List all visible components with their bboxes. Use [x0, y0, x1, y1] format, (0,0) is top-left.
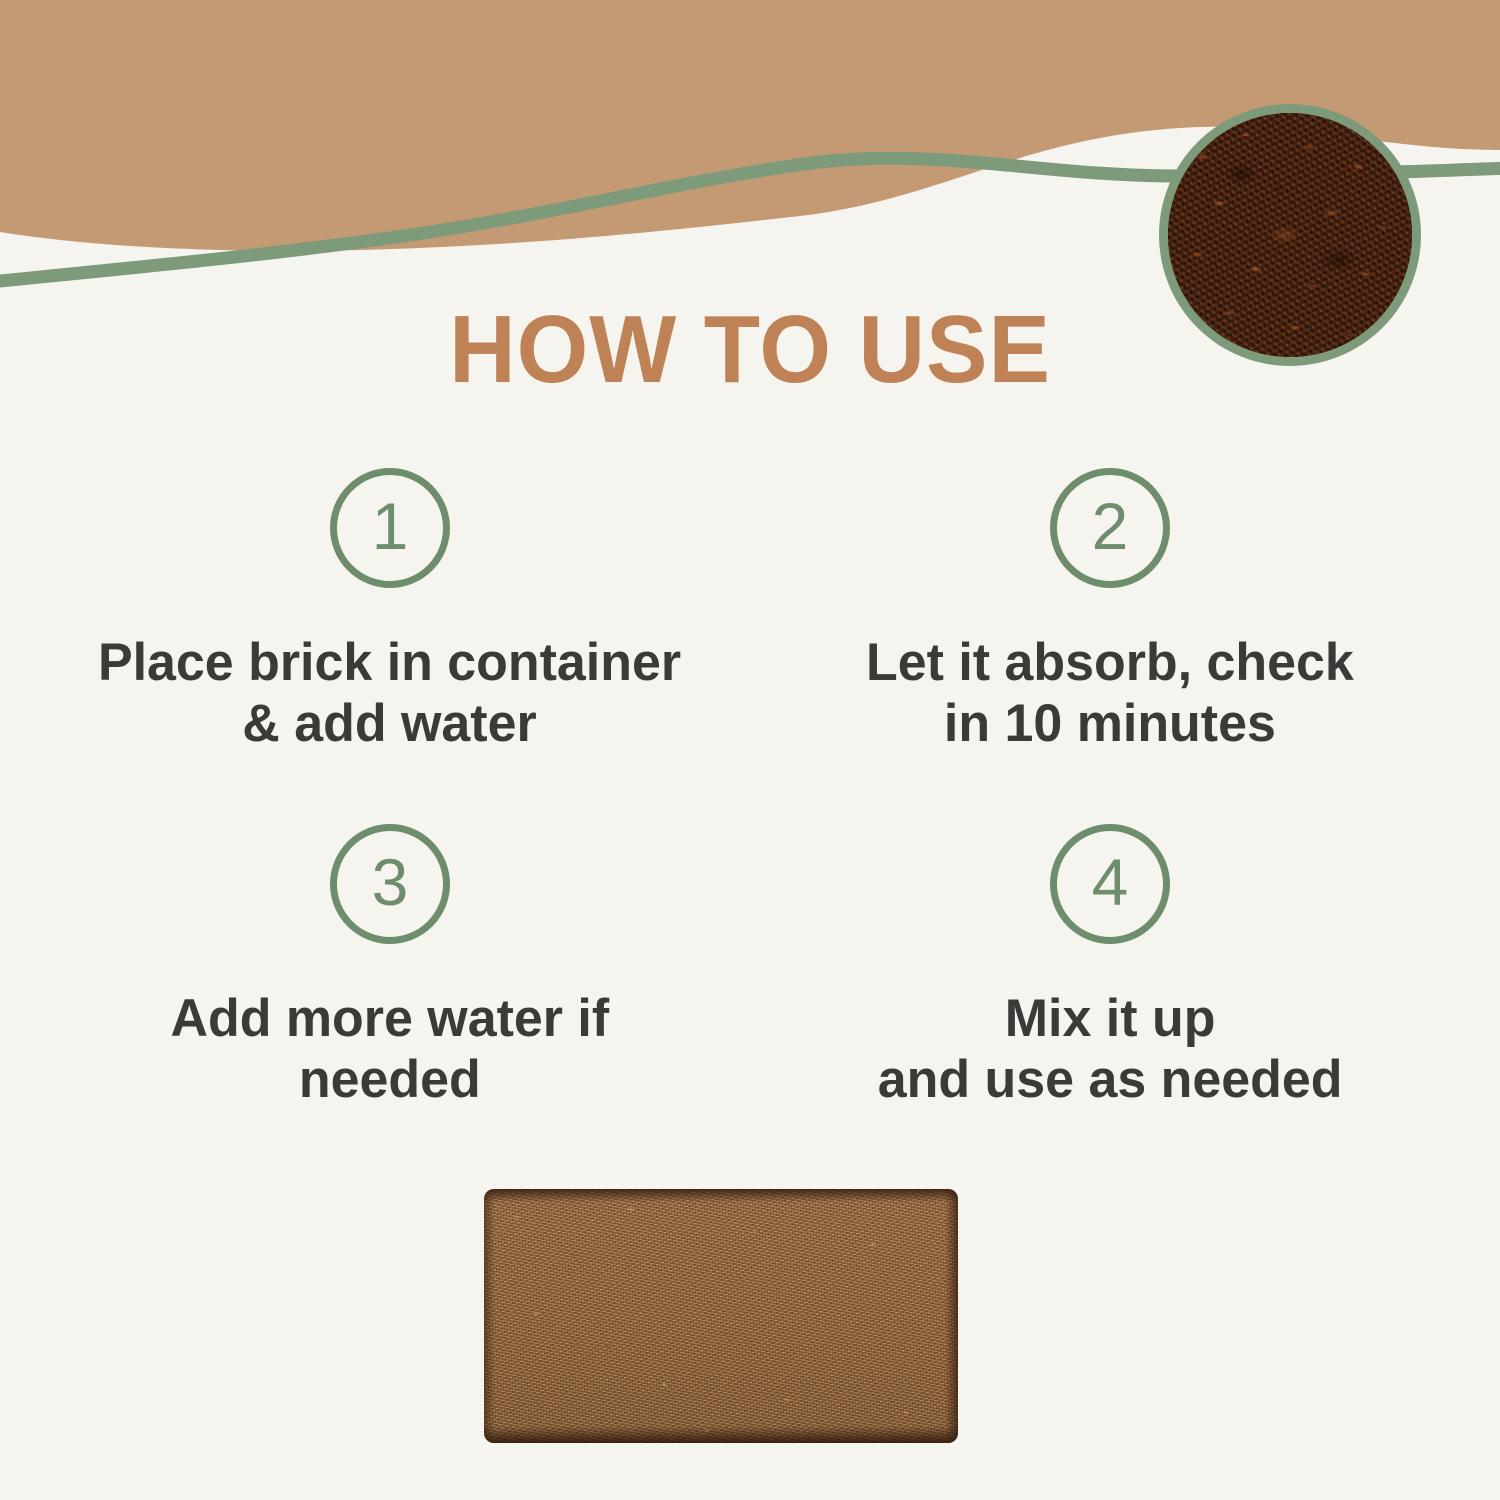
step-item-3: 3 Add more water if needed [30, 824, 750, 1180]
step-number-circle-1: 1 [330, 468, 450, 588]
steps-grid: 1 Place brick in container & add water 2… [30, 468, 1470, 1180]
step-number-3: 3 [372, 849, 409, 915]
step-item-4: 4 Mix it up and use as needed [750, 824, 1470, 1180]
page-title: HOW TO USE [30, 295, 1470, 405]
step-label-2: Let it absorb, check in 10 minutes [866, 632, 1354, 755]
step-number-circle-3: 3 [330, 824, 450, 944]
brick-edge-left [484, 1189, 495, 1443]
step-number-1: 1 [372, 493, 409, 559]
step-label-1: Place brick in container & add water [98, 632, 681, 755]
infographic-page: HOW TO USE 1 Place brick in container & … [0, 0, 1500, 1500]
brick-edge-bottom [484, 1426, 958, 1443]
step-item-2: 2 Let it absorb, check in 10 minutes [750, 468, 1470, 824]
step-number-circle-2: 2 [1050, 468, 1170, 588]
step-label-3: Add more water if needed [171, 988, 610, 1111]
step-item-1: 1 Place brick in container & add water [30, 468, 750, 824]
brick-edge-top [484, 1189, 958, 1202]
step-number-4: 4 [1092, 849, 1129, 915]
step-number-2: 2 [1092, 493, 1129, 559]
step-number-circle-4: 4 [1050, 824, 1170, 944]
step-label-4: Mix it up and use as needed [878, 988, 1343, 1111]
brick-edge-right [945, 1189, 958, 1443]
coco-coir-brick-photo [484, 1189, 958, 1443]
